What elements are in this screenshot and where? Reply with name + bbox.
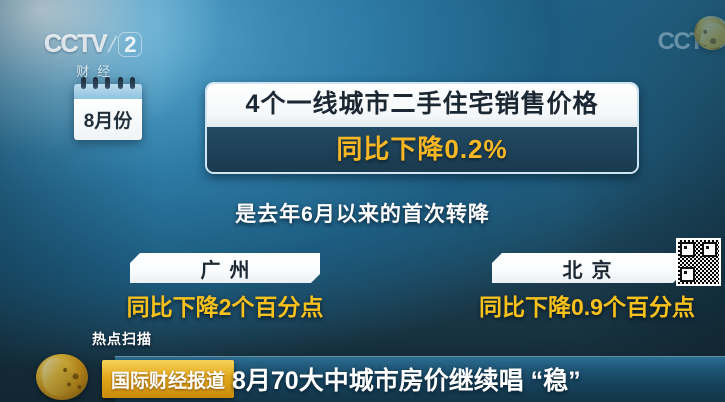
city-name-chip: 北京 <box>492 253 682 283</box>
city-block-guangzhou: 广州 同比下降2个百分点 <box>90 253 360 322</box>
main-stat-card: 4个一线城市二手住宅销售价格 同比下降0.2% <box>205 82 639 174</box>
headline-text: 8月70大中城市房价继续唱 “稳” <box>232 360 581 398</box>
city-name-label: 北京 <box>554 254 621 283</box>
qr-finder-top-right <box>702 242 717 257</box>
program-name-badge: 国际财经报道 <box>102 360 234 398</box>
cctv-watermark: CCTV <box>658 28 717 56</box>
city-value-label: 同比下降2个百分点 <box>90 288 360 322</box>
city-name-label: 广州 <box>192 254 259 283</box>
main-stat-title: 4个一线城市二手住宅销售价格 <box>207 84 637 127</box>
city-value-label: 同比下降0.9个百分点 <box>452 288 722 322</box>
city-name-chip: 广州 <box>130 253 320 283</box>
program-name-label: 国际财经报道 <box>111 366 225 393</box>
qr-code-icon <box>676 238 721 286</box>
main-stat-value: 同比下降0.2% <box>207 127 637 173</box>
calendar-month-label: 8月份 <box>84 106 133 133</box>
qr-finder-bottom-left <box>680 267 695 282</box>
calendar-body: 8月份 <box>74 99 142 140</box>
channel-logo-slash: / <box>106 32 119 58</box>
channel-logo-text: CCTV <box>44 30 106 59</box>
channel-logo: CCTV / 2 财经 <box>44 30 142 80</box>
channel-number: 2 <box>118 32 142 57</box>
section-label: 热点扫描 <box>92 329 152 349</box>
channel-logo-row: CCTV / 2 <box>44 30 142 59</box>
broadcast-frame: CCTV / 2 财经 CCTV 8月份 4个一线城市二手住宅销售价格 同比下降… <box>0 0 725 402</box>
sub-headline: 是去年6月以来的首次转降 <box>0 198 725 228</box>
qr-finder-top-left <box>680 242 695 257</box>
calendar-rings <box>74 77 142 89</box>
calendar-icon: 8月份 <box>74 82 142 142</box>
